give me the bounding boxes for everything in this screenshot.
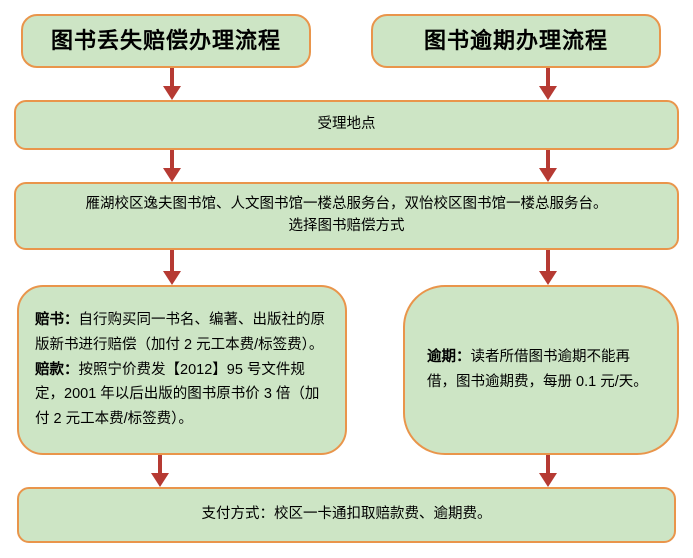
node-overdue-detail: 逾期：读者所借图书逾期不能再借，图书逾期费，每册 0.1 元/天。 [403, 285, 679, 455]
compensation-book-label: 赔书： [35, 312, 79, 328]
node-acceptance-location-label: 受理地点 [16, 114, 677, 136]
node-compensation-detail-text: 赔书：自行购买同一书名、编著、出版社的原版新书进行赔偿（加付 2 元工本费/标签… [19, 308, 345, 433]
compensation-money-label: 赔款： [35, 362, 79, 378]
arrow-overdue-to-payment [538, 455, 558, 487]
node-payment-method: 支付方式：校区一卡通扣取赔款费、逾期费。 [17, 487, 676, 543]
arrow-locations-to-overdue [538, 250, 558, 285]
compensation-money-text: 按照宁价费发【2012】95 号文件规定，2001 年以后出版的图书原书价 3 … [35, 362, 319, 428]
locations-line-1: 雁湖校区逸夫图书馆、人文图书馆一楼总服务台，双怡校区图书馆一楼总服务台。 [26, 194, 667, 216]
node-acceptance-location: 受理地点 [14, 100, 679, 150]
arrow-compensation-to-payment [150, 455, 170, 487]
node-title-lost-book-compensation-label: 图书丢失赔偿办理流程 [23, 28, 309, 54]
node-compensation-detail: 赔书：自行购买同一书名、编著、出版社的原版新书进行赔偿（加付 2 元工本费/标签… [17, 285, 347, 455]
node-title-overdue-book-process-label: 图书逾期办理流程 [373, 28, 659, 54]
overdue-label: 逾期： [427, 349, 471, 365]
node-title-overdue-book-process: 图书逾期办理流程 [371, 14, 661, 68]
arrow-title-left-to-accept [162, 68, 182, 100]
flowchart-canvas: 图书丢失赔偿办理流程 图书逾期办理流程 受理地点 雁湖校区逸夫图书馆、人文图书馆… [0, 0, 693, 558]
node-title-lost-book-compensation: 图书丢失赔偿办理流程 [21, 14, 311, 68]
arrow-locations-to-compensation [162, 250, 182, 285]
node-overdue-detail-text: 逾期：读者所借图书逾期不能再借，图书逾期费，每册 0.1 元/天。 [405, 345, 677, 395]
arrow-title-right-to-accept [538, 68, 558, 100]
compensation-book-text: 自行购买同一书名、编著、出版社的原版新书进行赔偿（加付 2 元工本费/标签费）。 [35, 312, 325, 353]
locations-line-2: 选择图书赔偿方式 [26, 216, 667, 238]
node-payment-method-label: 支付方式：校区一卡通扣取赔款费、逾期费。 [19, 504, 674, 526]
arrow-accept-to-locations-left [162, 150, 182, 182]
arrow-accept-to-locations-right [538, 150, 558, 182]
node-service-desk-locations: 雁湖校区逸夫图书馆、人文图书馆一楼总服务台，双怡校区图书馆一楼总服务台。 选择图… [14, 182, 679, 250]
node-service-desk-locations-text: 雁湖校区逸夫图书馆、人文图书馆一楼总服务台，双怡校区图书馆一楼总服务台。 选择图… [16, 194, 677, 238]
